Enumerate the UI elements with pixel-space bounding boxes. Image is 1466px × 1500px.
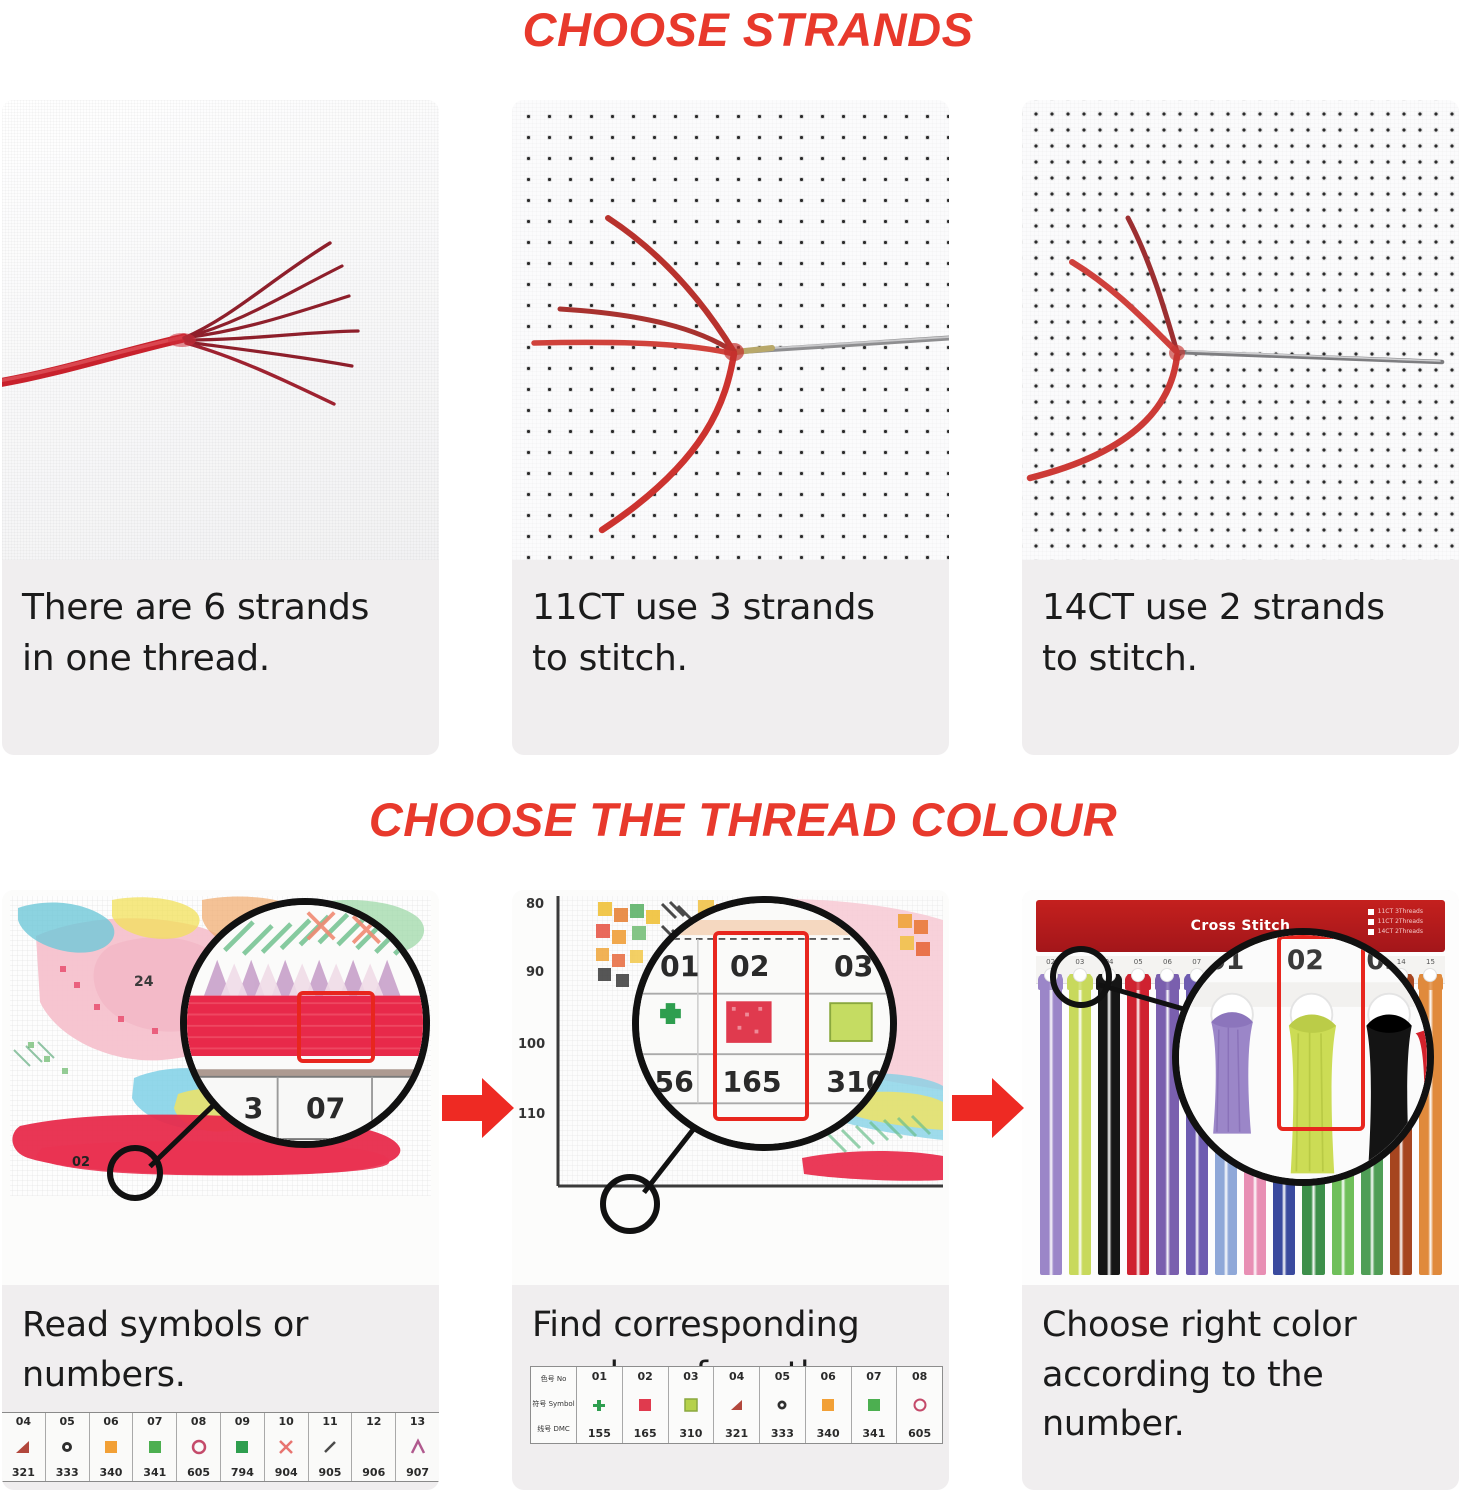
legend-index: 07 xyxy=(866,1370,881,1383)
legend-symbol-icon xyxy=(774,1397,790,1413)
photo-six-strands xyxy=(2,100,439,560)
skein-body xyxy=(1069,974,1091,1275)
legend-cell[interactable]: 06340 xyxy=(806,1367,852,1443)
legend-index: 06 xyxy=(820,1370,835,1383)
legend-cell[interactable]: 10904 xyxy=(265,1413,309,1481)
legend-index: 03 xyxy=(683,1370,698,1383)
legend-dmc-number: 333 xyxy=(56,1466,79,1479)
legend-index: 10 xyxy=(279,1415,294,1428)
legend-symbol-icon xyxy=(591,1397,607,1413)
legend-row-label-1: 符号 Symbol xyxy=(532,1401,574,1409)
magnifier-lens: 01 02 03 56 165 310 xyxy=(632,896,897,1151)
legend-cell[interactable]: 04321 xyxy=(714,1367,760,1443)
legend-index: 04 xyxy=(16,1415,31,1428)
thread-six-strands-illustration xyxy=(2,100,439,560)
legend-index: 07 xyxy=(147,1415,162,1428)
svg-text:24: 24 xyxy=(134,974,154,990)
checkbox-icon[interactable] xyxy=(1368,929,1374,935)
legend-dmc-number: 905 xyxy=(318,1466,341,1479)
svg-text:110: 110 xyxy=(518,1107,545,1122)
legend-index: 04 xyxy=(729,1370,744,1383)
legend-row-label-0: 色号 No xyxy=(541,1376,567,1384)
card-11ct-three-strands[interactable]: 11CT use 3 strands to stitch. xyxy=(512,100,949,755)
caption-line-3: number. xyxy=(1042,1400,1439,1450)
photo-11ct-aida xyxy=(512,100,949,560)
svg-text:03: 03 xyxy=(834,951,873,984)
legend-cell[interactable]: 05333 xyxy=(760,1367,806,1443)
legend-symbol-icon xyxy=(683,1397,699,1413)
strands-card-row: There are 6 strands in one thread. xyxy=(0,100,1466,760)
svg-text:01: 01 xyxy=(660,951,699,984)
card-read-symbols[interactable]: 24 02 xyxy=(2,890,439,1490)
page-title-choose-strands: CHOOSE STRANDS xyxy=(0,2,1466,57)
legend-index: 08 xyxy=(912,1370,927,1383)
dmc-legend-table[interactable]: 色号 No 符号 Symbol 线号 DMC 01155021650331004… xyxy=(530,1366,943,1444)
svg-text:80: 80 xyxy=(526,897,544,912)
legend-row-label-2: 线号 DMC xyxy=(537,1426,570,1434)
legend-dmc-number: 906 xyxy=(362,1466,385,1479)
needle-and-three-strands-illustration xyxy=(512,100,949,560)
needle-and-two-strands-illustration xyxy=(1022,100,1459,560)
skein-body xyxy=(1156,974,1178,1275)
legend-dmc-number: 310 xyxy=(679,1427,702,1440)
svg-text:100: 100 xyxy=(518,1037,545,1052)
skein-body xyxy=(1127,974,1149,1275)
svg-text:07: 07 xyxy=(306,1092,345,1125)
legend-cell[interactable]: 02165 xyxy=(623,1367,669,1443)
caption-11ct: 11CT use 3 strands to stitch. xyxy=(512,560,949,684)
magnifier-lens: 3 07 xyxy=(180,898,430,1148)
legend-symbol-icon xyxy=(637,1397,653,1413)
check-label: 14CT 2Threads xyxy=(1378,928,1423,935)
legend-dmc-number: 605 xyxy=(187,1466,210,1479)
photo-thread-card: Cross Stitch 11CT 3Threads11CT 2Threads1… xyxy=(1022,890,1459,1285)
caption-line-1: Read symbols or xyxy=(22,1301,419,1351)
checkbox-icon[interactable] xyxy=(1368,919,1374,925)
caption-line-2: to stitch. xyxy=(532,633,929,684)
arrow-right-icon-2 xyxy=(952,1075,1024,1141)
legend-index: 01 xyxy=(592,1370,607,1383)
card-14ct-two-strands[interactable]: 14CT use 2 strands to stitch. xyxy=(1022,100,1459,755)
caption-line-2: to stitch. xyxy=(1042,633,1439,684)
legend-index: 05 xyxy=(60,1415,75,1428)
caption-line-2: according to the xyxy=(1042,1351,1439,1401)
page-title-choose-thread-colour: CHOOSE THE THREAD COLOUR xyxy=(0,792,1466,847)
legend-dmc-number: 794 xyxy=(231,1466,254,1479)
legend-cell[interactable]: 08605 xyxy=(177,1413,221,1481)
legend-index: 11 xyxy=(322,1415,337,1428)
legend-symbol-icon xyxy=(365,1438,383,1456)
check-label: 11CT 3Threads xyxy=(1378,908,1423,915)
card-choose-colour[interactable]: Cross Stitch 11CT 3Threads11CT 2Threads1… xyxy=(1022,890,1459,1490)
skein-number: 05 xyxy=(1124,958,1153,966)
legend-dmc-number: 907 xyxy=(406,1466,429,1479)
caption-six-strands: There are 6 strands in one thread. xyxy=(2,560,439,684)
caption-choose-colour: Choose right color according to the numb… xyxy=(1022,1285,1459,1450)
legend-index: 06 xyxy=(103,1415,118,1428)
legend-index: 13 xyxy=(410,1415,425,1428)
legend-index: 08 xyxy=(191,1415,206,1428)
thread-skein[interactable]: 05 xyxy=(1124,956,1153,1275)
legend-cell[interactable]: 07341 xyxy=(852,1367,898,1443)
skein-body xyxy=(1040,974,1062,1275)
legend-symbol-icon xyxy=(729,1397,745,1413)
legend-cell[interactable]: 08605 xyxy=(897,1367,942,1443)
legend-cell[interactable]: 09794 xyxy=(221,1413,265,1481)
caption-line-1: Find corresponding xyxy=(532,1301,929,1351)
legend-dmc-number: 340 xyxy=(817,1427,840,1440)
legend-cell[interactable]: 04321 xyxy=(2,1413,46,1481)
check-label: 11CT 2Threads xyxy=(1378,918,1423,925)
legend-dmc-number: 341 xyxy=(862,1427,885,1440)
thread-skein[interactable]: 04 xyxy=(1094,956,1123,1275)
legend-cell[interactable]: 03310 xyxy=(669,1367,715,1443)
magnifier-focus-circle xyxy=(600,1174,660,1234)
legend-dmc-number: 904 xyxy=(275,1466,298,1479)
legend-row-labels: 色号 No 符号 Symbol 线号 DMC xyxy=(531,1367,577,1443)
legend-symbol-icon xyxy=(321,1438,339,1456)
legend-cell[interactable]: 12906 xyxy=(352,1413,396,1481)
legend-cell[interactable]: 13907 xyxy=(396,1413,439,1481)
legend-dmc-number: 155 xyxy=(588,1427,611,1440)
legend-cell[interactable]: 05333 xyxy=(46,1413,90,1481)
svg-text:310: 310 xyxy=(826,1066,885,1099)
magnifier-lens: 01 02 03 xyxy=(1172,928,1434,1186)
legend-cell[interactable]: 07341 xyxy=(133,1413,177,1481)
arrow-right-icon-1 xyxy=(442,1075,514,1141)
chart-cell-label-02: 02 xyxy=(72,1155,90,1170)
skein-hole xyxy=(1131,968,1145,982)
caption-line-1: 14CT use 2 strands xyxy=(1042,582,1439,633)
card-six-strands[interactable]: There are 6 strands in one thread. xyxy=(2,100,439,755)
highlight-box-thread-02 xyxy=(1277,935,1365,1131)
legend-dmc-number: 321 xyxy=(12,1466,35,1479)
caption-line-1: Choose right color xyxy=(1042,1301,1439,1351)
svg-text:56: 56 xyxy=(654,1066,693,1099)
legend-dmc-number: 333 xyxy=(771,1427,794,1440)
checkbox-icon[interactable] xyxy=(1368,909,1374,915)
highlight-box-column-02 xyxy=(713,931,809,1121)
magnifier-focus-circle xyxy=(1050,946,1112,1008)
symbol-legend-table[interactable]: 0432105333063400734108605097941090411905… xyxy=(2,1412,439,1482)
thread-card-checklist: 11CT 3Threads11CT 2Threads14CT 2Threads xyxy=(1368,908,1423,935)
legend-symbol-icon xyxy=(866,1397,882,1413)
skein-body xyxy=(1098,974,1120,1275)
legend-dmc-number: 340 xyxy=(100,1466,123,1479)
caption-read-symbols: Read symbols or numbers. xyxy=(2,1285,439,1400)
legend-cell[interactable]: 01155 xyxy=(577,1367,623,1443)
caption-line-2: in one thread. xyxy=(22,633,419,684)
svg-text:01: 01 xyxy=(1207,945,1244,976)
svg-text:90: 90 xyxy=(526,965,544,980)
legend-dmc-number: 321 xyxy=(725,1427,748,1440)
legend-cell[interactable]: 06340 xyxy=(90,1413,134,1481)
legend-symbol-icon xyxy=(912,1397,928,1413)
legend-symbol-icon xyxy=(820,1397,836,1413)
colour-card-row: 24 02 xyxy=(0,890,1466,1495)
thread-card-check-item[interactable]: 11CT 3Threads xyxy=(1368,908,1423,915)
legend-symbol-icon xyxy=(277,1438,295,1456)
caption-line-2: numbers. xyxy=(22,1351,419,1401)
magnifier-focus-circle xyxy=(107,1145,163,1201)
legend-index: 02 xyxy=(637,1370,652,1383)
legend-index: 12 xyxy=(366,1415,381,1428)
legend-cell[interactable]: 11905 xyxy=(309,1413,353,1481)
svg-text:03: 03 xyxy=(1366,945,1403,976)
caption-14ct: 14CT use 2 strands to stitch. xyxy=(1022,560,1459,684)
legend-index: 09 xyxy=(235,1415,250,1428)
skein-number: 06 xyxy=(1153,958,1182,966)
legend-symbol-icon xyxy=(14,1438,32,1456)
legend-dmc-number: 165 xyxy=(634,1427,657,1440)
legend-symbol-icon xyxy=(102,1438,120,1456)
caption-line-1: 11CT use 3 strands xyxy=(532,582,929,633)
photo-14ct-aida xyxy=(1022,100,1459,560)
legend-symbol-icon xyxy=(233,1438,251,1456)
legend-dmc-number: 605 xyxy=(908,1427,931,1440)
legend-symbol-icon xyxy=(409,1438,427,1456)
legend-symbol-icon xyxy=(190,1438,208,1456)
thread-card-check-item[interactable]: 14CT 2Threads xyxy=(1368,928,1423,935)
photo-pattern-chart: 24 02 xyxy=(2,890,439,1285)
highlight-box-magnified xyxy=(297,991,375,1063)
thread-card-check-item[interactable]: 11CT 2Threads xyxy=(1368,918,1423,925)
svg-text:3: 3 xyxy=(244,1092,264,1125)
skein-hole xyxy=(1160,968,1174,982)
legend-index: 05 xyxy=(775,1370,790,1383)
card-find-numbers[interactable]: 80 90 100 110 xyxy=(512,890,949,1490)
caption-line-1: There are 6 strands xyxy=(22,582,419,633)
legend-symbol-icon xyxy=(58,1438,76,1456)
legend-dmc-number: 341 xyxy=(143,1466,166,1479)
photo-chart-with-axis: 80 90 100 110 xyxy=(512,890,949,1285)
thread-skein[interactable]: 02 xyxy=(1036,956,1065,1275)
legend-symbol-icon xyxy=(146,1438,164,1456)
